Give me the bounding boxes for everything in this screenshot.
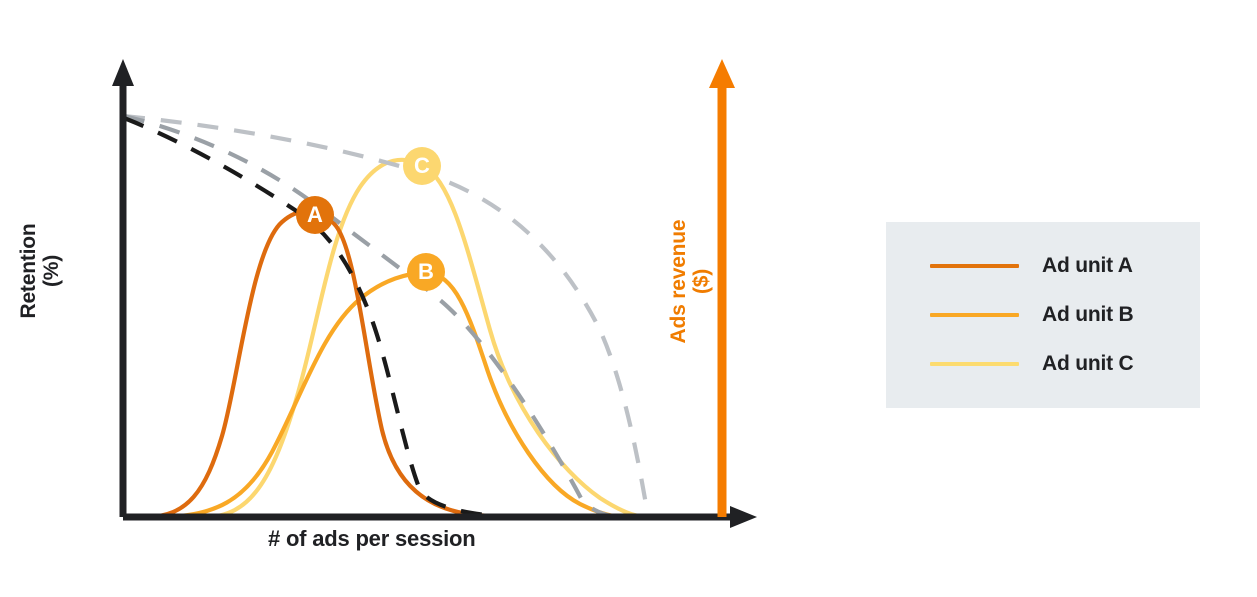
retention-curve-ad-unit-b bbox=[124, 116, 624, 517]
legend-item-ad-unit-a[interactable]: Ad unit A bbox=[930, 254, 1200, 278]
marker-badge-b-label: B bbox=[418, 261, 434, 283]
legend-item-ad-unit-c[interactable]: Ad unit C bbox=[930, 352, 1200, 376]
legend-label-ad-unit-a: Ad unit A bbox=[1042, 254, 1133, 278]
y-axis-left-label: Retention (%) bbox=[18, 196, 63, 346]
legend-item-list: Ad unit A Ad unit B Ad unit C bbox=[886, 222, 1200, 408]
x-axis-arrow-icon bbox=[730, 506, 757, 528]
marker-badge-b[interactable]: B bbox=[407, 253, 445, 291]
y-axis-right-label: Ads revenue ($) bbox=[668, 194, 713, 369]
chart-legend: Ad unit A Ad unit B Ad unit C bbox=[886, 222, 1200, 408]
legend-swatch-ad-unit-c bbox=[930, 362, 1019, 366]
revenue-curve-ad-unit-a bbox=[146, 211, 650, 518]
marker-badge-c-label: C bbox=[414, 155, 430, 177]
y-axis-left-arrow-icon bbox=[112, 59, 134, 86]
legend-label-ad-unit-c: Ad unit C bbox=[1042, 352, 1134, 376]
retention-curve-ad-unit-a bbox=[124, 118, 650, 517]
legend-swatch-ad-unit-b bbox=[930, 313, 1019, 317]
ad-revenue-retention-chart: A B C Retention (%) Ads revenue ($) # of… bbox=[0, 0, 1257, 597]
marker-badge-a[interactable]: A bbox=[296, 196, 334, 234]
legend-item-ad-unit-b[interactable]: Ad unit B bbox=[930, 303, 1200, 327]
marker-badge-c[interactable]: C bbox=[403, 147, 441, 185]
retention-curve-ad-unit-c bbox=[124, 116, 648, 516]
legend-swatch-ad-unit-a bbox=[930, 264, 1019, 268]
legend-label-ad-unit-b: Ad unit B bbox=[1042, 303, 1134, 327]
y-axis-right-arrow-icon bbox=[709, 59, 735, 88]
marker-badge-a-label: A bbox=[307, 204, 323, 226]
revenue-curve-ad-unit-c bbox=[205, 160, 650, 517]
x-axis-label: # of ads per session bbox=[268, 527, 476, 551]
